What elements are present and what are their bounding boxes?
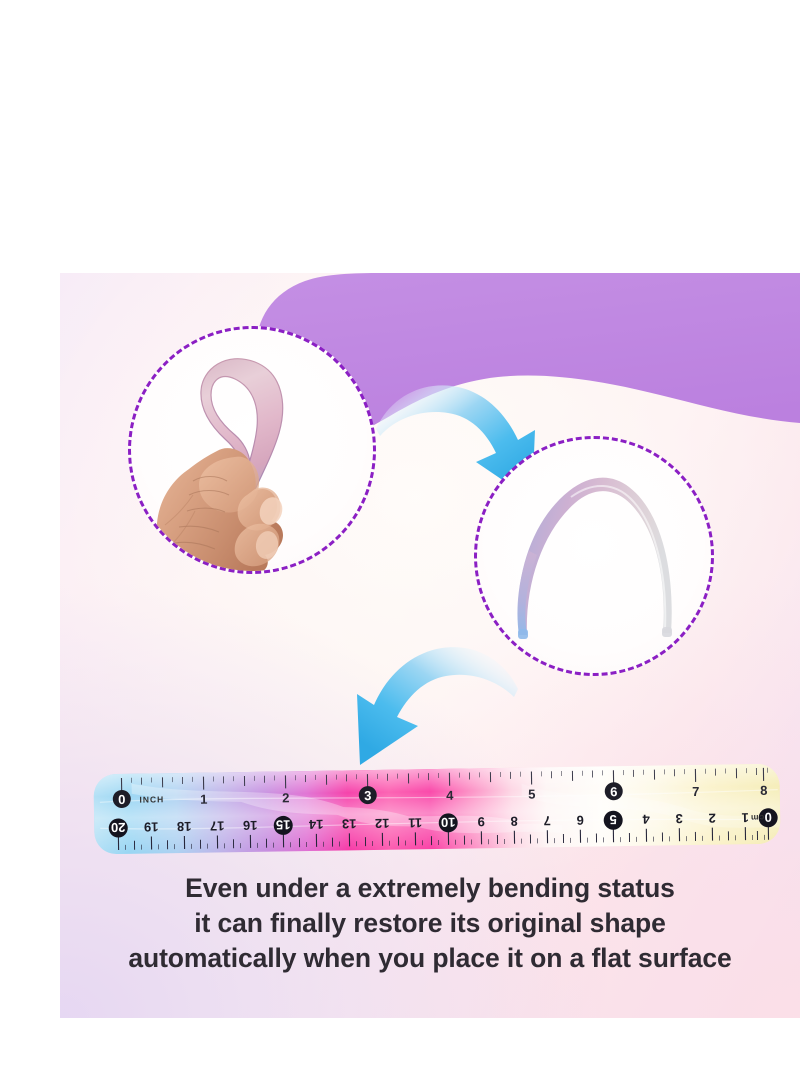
svg-text:1: 1 [200, 792, 207, 807]
caption-line-3: automatically when you place it on a fla… [60, 941, 800, 976]
svg-text:INCH: INCH [139, 794, 164, 804]
svg-text:3: 3 [364, 788, 371, 803]
svg-text:9: 9 [477, 814, 484, 829]
svg-text:11: 11 [408, 815, 422, 830]
flexible-rainbow-ruler: 0 1 2 3 4 5 6 7 8 INCH [91, 756, 782, 863]
svg-text:14: 14 [308, 817, 323, 832]
svg-text:4: 4 [446, 788, 454, 803]
svg-text:2: 2 [708, 811, 715, 826]
svg-text:20: 20 [111, 820, 126, 835]
svg-text:5: 5 [528, 786, 535, 801]
panel-bent-ruler-in-hand [128, 326, 376, 574]
svg-text:1: 1 [741, 810, 748, 825]
content-panel: 0 1 2 3 4 5 6 7 8 INCH [60, 273, 800, 1018]
svg-text:6: 6 [576, 813, 583, 828]
svg-text:3: 3 [675, 811, 682, 826]
caption-line-1: Even under a extremely bending status [60, 871, 800, 906]
svg-text:13: 13 [342, 816, 357, 831]
svg-text:4: 4 [642, 812, 650, 827]
svg-text:12: 12 [375, 816, 390, 831]
svg-text:10: 10 [441, 815, 456, 830]
svg-text:0: 0 [764, 810, 771, 825]
svg-text:16: 16 [243, 818, 258, 833]
product-caption: Even under a extremely bending status it… [60, 871, 800, 976]
svg-text:7: 7 [692, 784, 699, 799]
infographic-stage: 0 1 2 3 4 5 6 7 8 INCH [0, 0, 800, 1091]
svg-text:6: 6 [610, 784, 617, 799]
svg-text:18: 18 [177, 819, 192, 834]
photo-hand-bent-ruler [131, 329, 373, 571]
svg-text:19: 19 [144, 819, 159, 834]
svg-text:15: 15 [276, 817, 291, 832]
svg-text:8: 8 [510, 814, 517, 829]
svg-text:7: 7 [543, 813, 550, 828]
svg-text:0: 0 [118, 792, 125, 807]
svg-text:17: 17 [210, 818, 225, 833]
svg-text:5: 5 [609, 812, 616, 827]
caption-line-2: it can finally restore its original shap… [60, 906, 800, 941]
svg-text:2: 2 [282, 790, 289, 805]
svg-text:8: 8 [760, 783, 767, 798]
svg-text:cm: cm [750, 813, 764, 823]
